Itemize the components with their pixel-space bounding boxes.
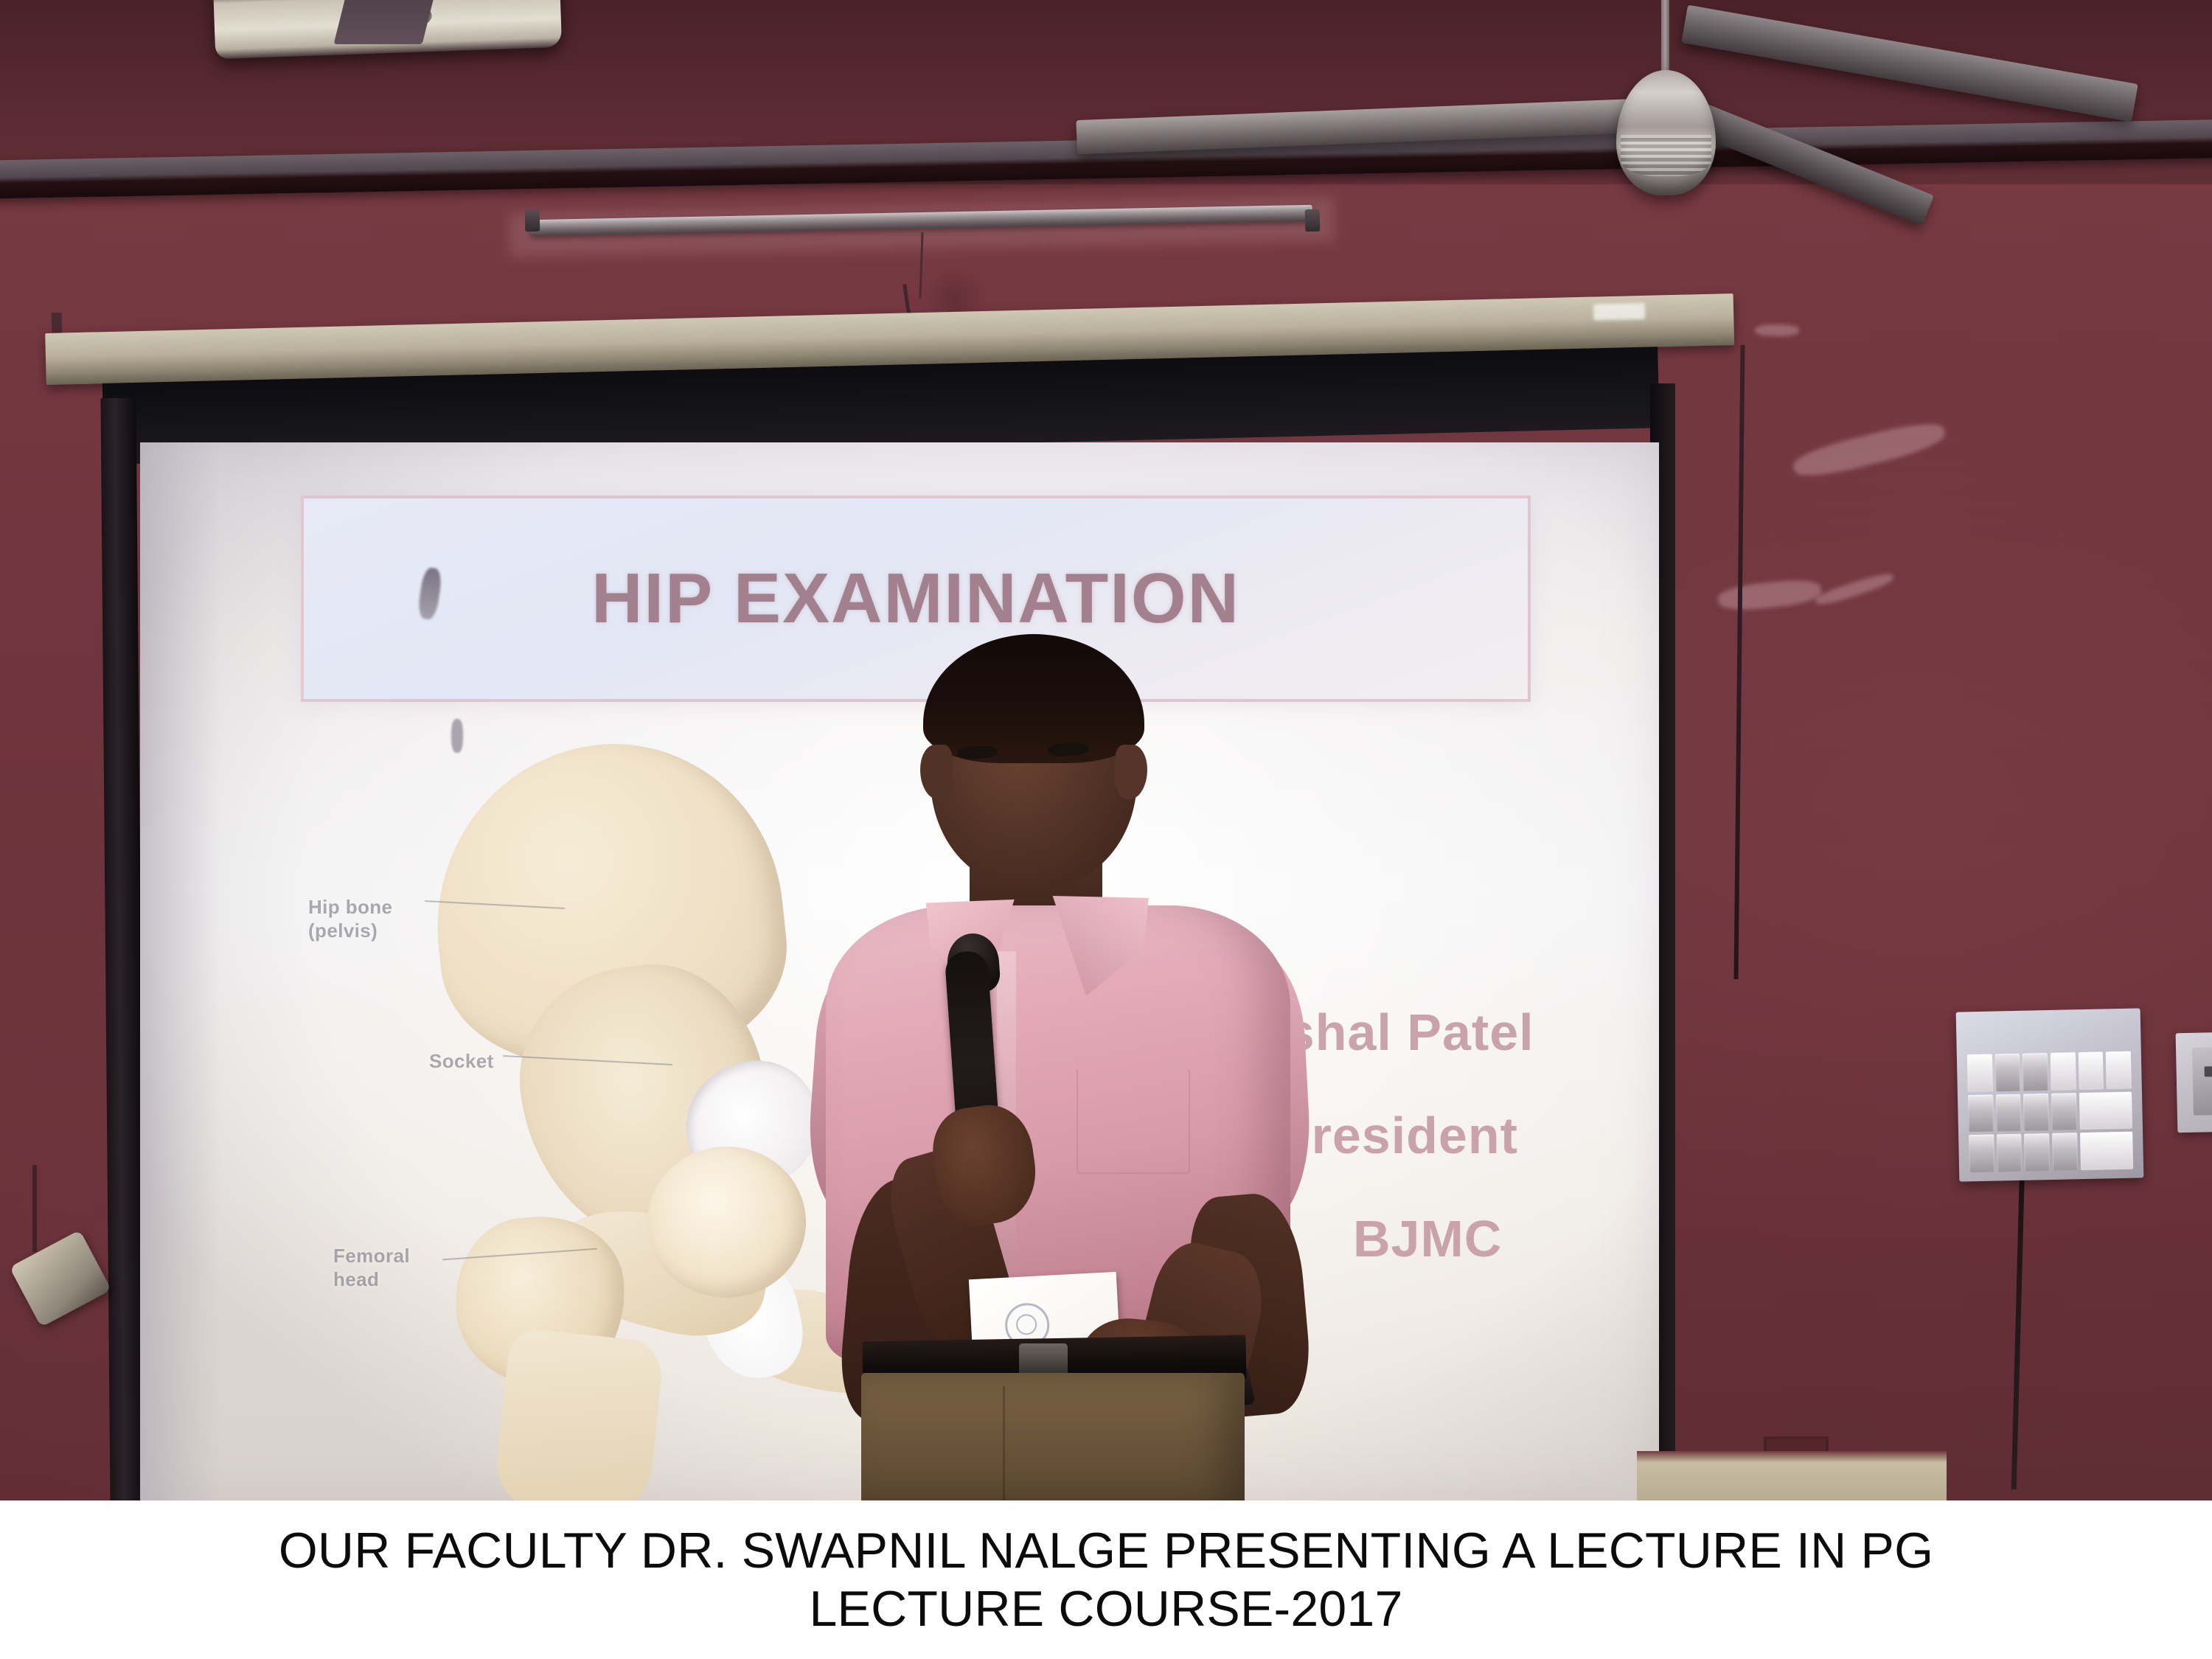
caption-line-1: OUR FACULTY DR. SWAPNIL NALGE PRESENTING… (279, 1524, 1933, 1577)
casing-highlight (1593, 303, 1645, 321)
speaker-hair (923, 634, 1144, 763)
label-femoral-line1: Femoral (333, 1245, 410, 1267)
light-switch[interactable] (2051, 1093, 2077, 1130)
light-switch[interactable] (1969, 1135, 1994, 1172)
light-switch[interactable] (2052, 1133, 2078, 1171)
label-femoral-line2: head (333, 1268, 379, 1290)
light-switch[interactable] (2024, 1133, 2050, 1171)
lecture-photo: HIP EXAMINATION Hip bone (pelvis) Socket… (0, 0, 2212, 1500)
light-switch[interactable] (1968, 1094, 1994, 1132)
light-switch[interactable] (2051, 1052, 2076, 1090)
tube-light-cap (525, 209, 540, 232)
light-switch[interactable] (1994, 1054, 2020, 1091)
switch-grid (1967, 1051, 2133, 1173)
light-switch[interactable] (1967, 1054, 1993, 1092)
slide-presenter-institute: BJMC (1353, 1209, 1574, 1268)
table (1637, 1451, 1947, 1500)
trouser-crease (1003, 1386, 1005, 1500)
light-switch[interactable] (2079, 1091, 2132, 1130)
label-socket: Socket (429, 1050, 494, 1074)
light-switch[interactable] (2078, 1051, 2104, 1089)
light-switch[interactable] (2106, 1051, 2132, 1089)
trousers (861, 1373, 1245, 1500)
speaker-figure (759, 634, 1320, 1500)
femur-shaft-shape (493, 1327, 665, 1500)
label-hip-bone-line1: Hip bone (308, 896, 392, 918)
ear-left (920, 745, 953, 799)
ear-right (1115, 745, 1147, 799)
shirt-pocket (1077, 1069, 1190, 1174)
label-hip-bone-line2: (pelvis) (308, 919, 378, 942)
light-switch[interactable] (2080, 1132, 2133, 1170)
caption-line-2: LECTURE COURSE-2017 (810, 1582, 1403, 1635)
light-switch[interactable] (2023, 1093, 2049, 1131)
light-switch[interactable] (1996, 1093, 2022, 1131)
caption-block: OUR FACULTY DR. SWAPNIL NALGE PRESENTING… (0, 1500, 2212, 1659)
label-hip-bone: Hip bone (pelvis) (308, 896, 392, 942)
fan-down-rod (1661, 0, 1669, 80)
tube-light-cap (1305, 209, 1321, 232)
light-switch[interactable] (2023, 1053, 2048, 1091)
light-switch[interactable] (1997, 1134, 2023, 1172)
light-switch-panel (1956, 1008, 2144, 1181)
power-socket[interactable] (2176, 1032, 2212, 1133)
screenshot-root: HIP EXAMINATION Hip bone (pelvis) Socket… (0, 0, 2212, 1659)
label-femoral-head: Femoral head (333, 1245, 410, 1291)
wall-scuff (1755, 324, 1799, 336)
wall-lamp-stem (32, 1165, 37, 1252)
socket-face (2192, 1046, 2212, 1116)
